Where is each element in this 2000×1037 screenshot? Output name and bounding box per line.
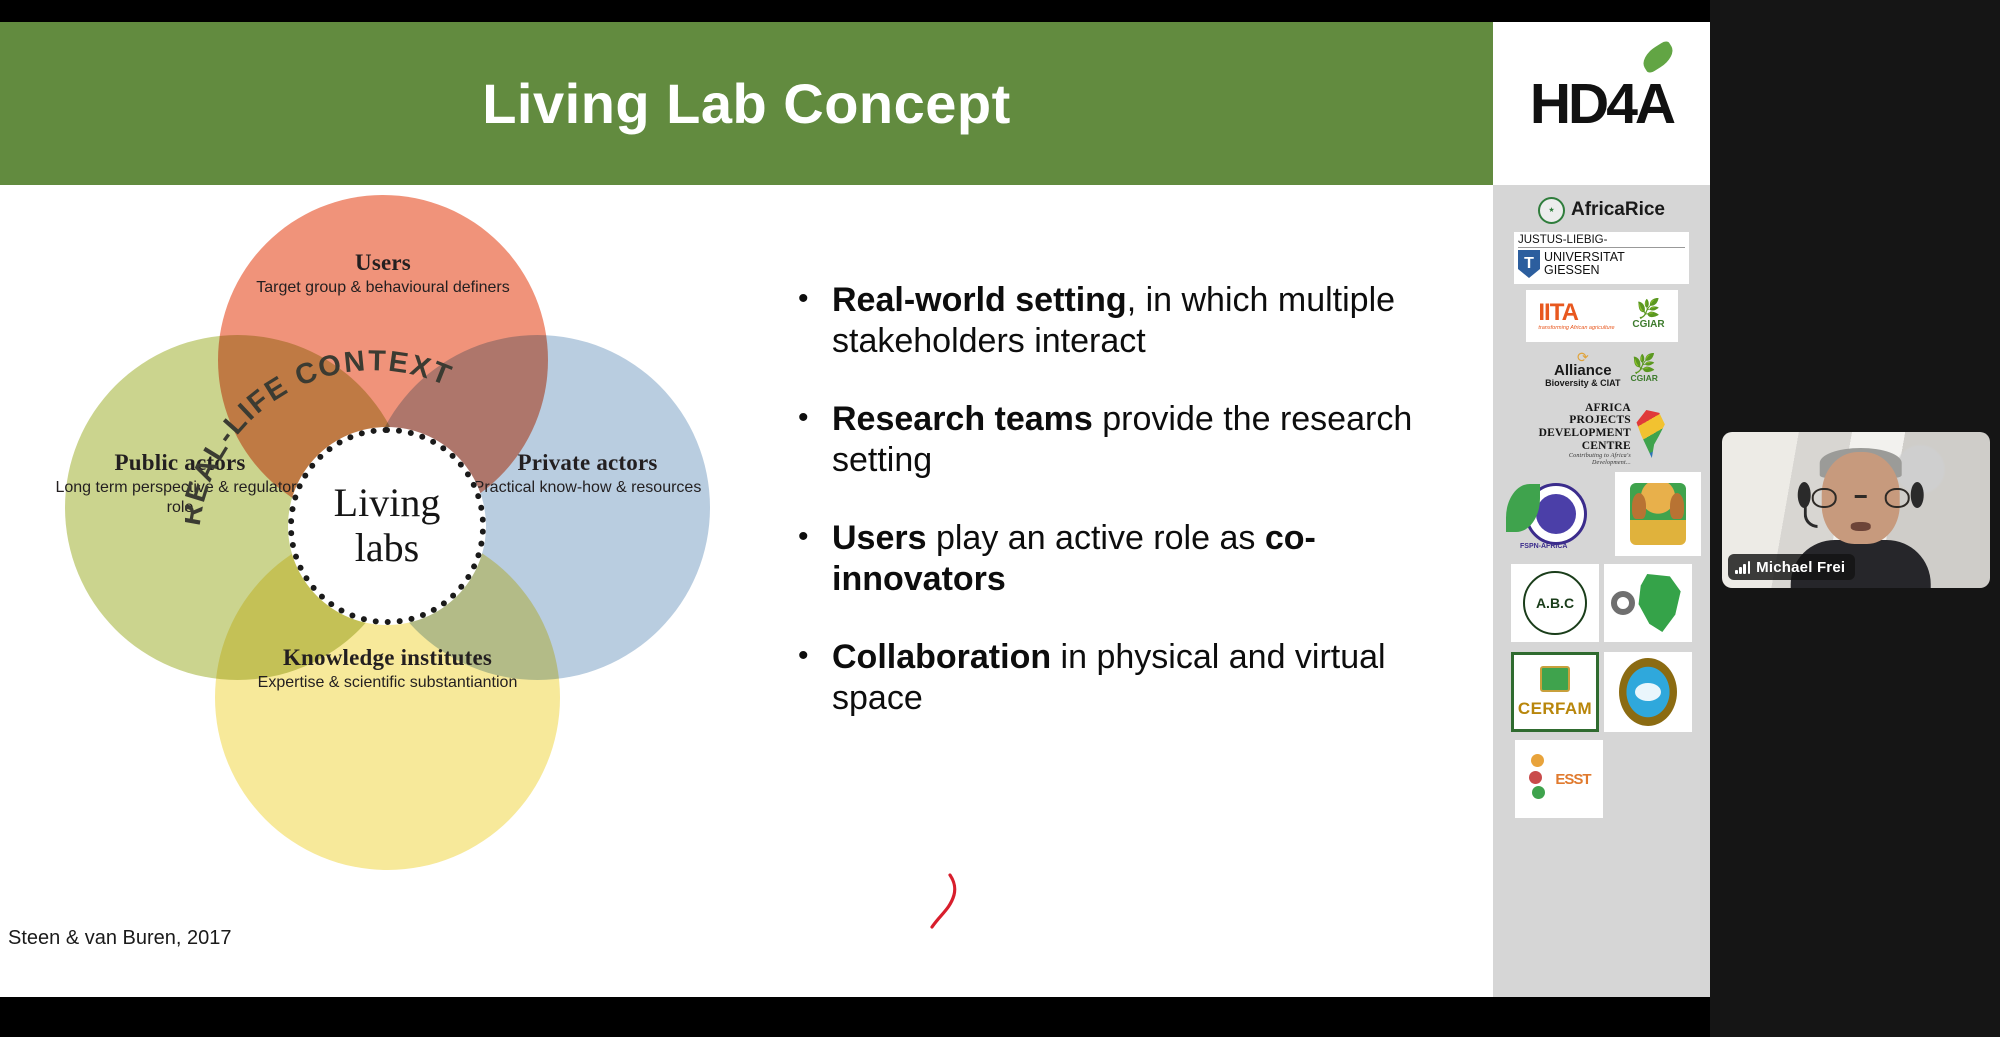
cerfam-crest-icon: [1540, 666, 1570, 692]
living-labs-line1: Living: [334, 481, 441, 526]
bullet-3-bold: Users: [832, 519, 927, 557]
bullet-marker-icon: •: [798, 400, 809, 437]
esst-wordmark: ESST: [1555, 771, 1590, 788]
cgiar-logo: 🌿 CGIAR: [1632, 302, 1664, 329]
bullet-1-bold: Real-world setting: [832, 281, 1127, 319]
bullet-3-rest: play an active role as: [927, 519, 1265, 557]
hd4a-wordmark: HD4A: [1530, 72, 1673, 136]
venn-label-private-actors: Private actors Practical know-how & reso…: [445, 450, 730, 498]
source-citation: Steen & van Buren, 2017: [8, 927, 232, 950]
hd4a-logo: HD4A: [1493, 22, 1710, 185]
apdc-tagline: Contributing to Africa's Development...: [1537, 453, 1631, 466]
fspn-wordmark: FSPN-AFRICA: [1520, 543, 1567, 550]
emblem-icon: [1619, 658, 1677, 726]
country-shape-icon: [1631, 574, 1685, 632]
cgiar-leaf-icon: 🌿: [1630, 357, 1657, 373]
alliance-line1: Alliance: [1545, 363, 1620, 378]
venn-label-private-title: Private actors: [445, 450, 730, 476]
bullet-2-bold: Research teams: [832, 400, 1093, 438]
abc-seal-icon: A.B.C: [1523, 571, 1587, 635]
cgiar-logo: 🌿 CGIAR: [1630, 357, 1657, 383]
venn-label-public-subtitle: Long term perspective & regulatory role: [45, 478, 315, 517]
bullet-marker-icon: •: [798, 638, 809, 675]
logo-esst: ESST: [1515, 740, 1603, 818]
participant-name: Michael Frei: [1756, 559, 1845, 576]
cgiar-wordmark: CGIAR: [1630, 373, 1657, 383]
venn-label-users-subtitle: Target group & behavioural definers: [218, 278, 548, 298]
apdc-line1: AFRICA PROJECTS: [1537, 402, 1631, 428]
logo-iita-cgiar: IITA transforming African agriculture 🌿 …: [1526, 290, 1678, 342]
giessen-shield-icon: T: [1518, 250, 1540, 278]
bullet-marker-icon: •: [798, 281, 809, 318]
presentation-slide[interactable]: Living Lab Concept HD4A REAL-LIFE CONTEX…: [0, 22, 1710, 997]
screen-share-window: Living Lab Concept HD4A REAL-LIFE CONTEX…: [0, 0, 2000, 1037]
logo-cote-divoire-elephant: [1604, 564, 1692, 642]
giessen-line1: JUSTUS-LIEBIG-: [1518, 234, 1685, 248]
cgiar-wordmark: CGIAR: [1632, 319, 1664, 330]
bullet-marker-icon: •: [798, 519, 809, 556]
leaf-icon: [1638, 39, 1677, 74]
red-ink-annotation: [920, 865, 1000, 935]
giessen-line3: GIESSEN: [1544, 264, 1625, 277]
venn-label-knowledge-institutes: Knowledge institutes Expertise & scienti…: [200, 645, 575, 693]
logo-cerfam: CERFAM: [1511, 652, 1599, 732]
venn-label-private-subtitle: Practical know-how & resources: [445, 478, 730, 498]
signal-bars-icon: [1735, 561, 1750, 574]
africa-map-icon: [1634, 410, 1667, 458]
bullet-item-3: • Users play an active role as co-innova…: [790, 518, 1450, 601]
logo-coat-of-arms: [1615, 472, 1701, 556]
slide-body: REAL-LIFE CONTEXT Living labs Users Targ…: [0, 185, 1493, 997]
bullet-item-2: • Research teams provide the research se…: [790, 399, 1450, 482]
bullet-item-4: • Collaboration in physical and virtual …: [790, 637, 1450, 720]
logo-justus-liebig-giessen: JUSTUS-LIEBIG- T UNIVERSITAT GIESSEN: [1514, 232, 1689, 284]
living-lab-venn-diagram: REAL-LIFE CONTEXT Living labs Users Targ…: [45, 195, 765, 940]
logo-blue-orange-emblem: [1604, 652, 1692, 732]
cgiar-leaf-icon: 🌿: [1632, 302, 1664, 318]
venn-label-public-actors: Public actors Long term perspective & re…: [45, 450, 315, 517]
venn-center-living-labs: Living labs: [288, 427, 486, 625]
iita-tagline: transforming African agriculture: [1538, 325, 1614, 331]
bullet-4-bold: Collaboration: [832, 638, 1051, 676]
venn-label-users-title: Users: [218, 250, 548, 276]
logo-fspn-africa: FSPN-AFRICA: [1502, 472, 1610, 556]
bullet-item-1: • Real-world setting, in which multiple …: [790, 280, 1450, 363]
venn-label-users: Users Target group & behavioural definer…: [218, 250, 548, 298]
esst-figures-icon: [1527, 754, 1553, 804]
participant-name-chip: Michael Frei: [1728, 554, 1855, 580]
slide-title-banner: Living Lab Concept: [0, 22, 1493, 185]
logo-alliance-bioversity-ciat: ⟳ Alliance Bioversity & CIAT 🌿 CGIAR: [1514, 346, 1689, 394]
bullet-list: • Real-world setting, in which multiple …: [790, 280, 1450, 756]
venn-label-knowledge-title: Knowledge institutes: [200, 645, 575, 671]
cerfam-wordmark: CERFAM: [1518, 699, 1592, 719]
venn-label-public-title: Public actors: [45, 450, 315, 476]
apdc-line2: DEVELOPMENT: [1537, 427, 1631, 440]
apdc-line3: CENTRE: [1537, 440, 1631, 453]
venn-label-knowledge-subtitle: Expertise & scientific substantiantion: [200, 673, 575, 693]
ring-icon: [1611, 591, 1635, 615]
logo-abc-training-center: A.B.C: [1511, 564, 1599, 642]
alliance-line2: Bioversity & CIAT: [1545, 378, 1620, 388]
living-labs-line2: labs: [355, 526, 419, 571]
page-title: Living Lab Concept: [0, 22, 1493, 185]
coat-of-arms-icon: [1630, 483, 1686, 545]
participant-video-tile[interactable]: Michael Frei: [1722, 432, 1990, 588]
logo-africa-projects-development-centre: AFRICA PROJECTS DEVELOPMENT CENTRE Contr…: [1537, 400, 1667, 468]
abc-wordmark: A.B.C: [1536, 595, 1574, 611]
logo-africarice: ★ AfricaAfricaRiceRice: [1512, 193, 1692, 227]
africarice-seal-icon: ★: [1538, 197, 1565, 224]
iita-wordmark: IITA: [1538, 301, 1614, 325]
partner-logo-sidebar: ★ AfricaAfricaRiceRice JUSTUS-LIEBIG- T …: [1493, 185, 1710, 997]
